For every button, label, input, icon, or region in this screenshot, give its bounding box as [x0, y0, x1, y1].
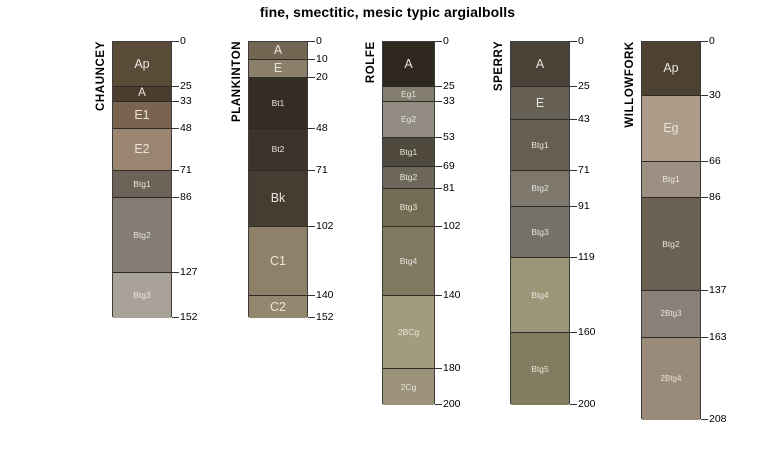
- depth-tick-label: 66: [709, 156, 721, 167]
- depth-tick-label: 30: [709, 90, 721, 101]
- horizon-rolfe-btg3[interactable]: Btg3: [383, 189, 434, 227]
- depth-tick: [172, 170, 179, 171]
- horizon-label: E1: [134, 109, 149, 122]
- horizon-sperry-a[interactable]: A: [511, 42, 569, 87]
- horizon-label: 2Btg3: [661, 310, 682, 318]
- horizon-label: Btg4: [531, 291, 549, 300]
- depth-tick: [172, 272, 179, 273]
- depth-tick-label: 48: [180, 123, 192, 134]
- depth-tick: [570, 206, 577, 207]
- depth-tick: [435, 86, 442, 87]
- horizon-label: Btg2: [400, 173, 418, 182]
- horizon-label: Btg2: [662, 240, 680, 249]
- profile-name-chauncey: CHAUNCEY: [95, 41, 107, 317]
- horizon-label: A: [536, 58, 544, 71]
- depth-tick: [570, 41, 577, 42]
- depth-tick-label: 137: [709, 285, 727, 296]
- horizon-label: A: [138, 88, 146, 100]
- horizon-plankinton-bt1[interactable]: Bt1: [249, 78, 307, 129]
- horizon-plankinton-bt2[interactable]: Bt2: [249, 129, 307, 171]
- horizon-label: Btg1: [400, 148, 418, 157]
- horizon-plankinton-bk[interactable]: Bk: [249, 171, 307, 227]
- profile-name-plankinton: PLANKINTON: [231, 41, 243, 317]
- depth-tick-label: 163: [709, 332, 727, 343]
- depth-tick-label: 140: [316, 290, 334, 301]
- depth-tick: [308, 128, 315, 129]
- depth-tick: [172, 128, 179, 129]
- depth-tick-label: 0: [316, 36, 322, 47]
- depth-tick-label: 127: [180, 267, 198, 278]
- horizon-rolfe-btg1[interactable]: Btg1: [383, 138, 434, 167]
- horizon-willowfork-2btg3[interactable]: 2Btg3: [642, 291, 700, 338]
- horizon-label: Btg2: [531, 184, 549, 193]
- horizon-chauncey-btg3[interactable]: Btg3: [113, 273, 171, 318]
- depth-tick: [701, 197, 708, 198]
- horizon-rolfe-a[interactable]: A: [383, 42, 434, 87]
- horizon-chauncey-e2[interactable]: E2: [113, 129, 171, 171]
- depth-tick: [701, 337, 708, 338]
- horizon-label: 2Cg: [401, 383, 417, 392]
- horizon-chauncey-ap[interactable]: Ap: [113, 42, 171, 87]
- depth-tick-label: 69: [443, 161, 455, 172]
- depth-tick: [701, 290, 708, 291]
- horizon-sperry-btg2[interactable]: Btg2: [511, 171, 569, 207]
- depth-tick-label: 152: [180, 312, 198, 323]
- depth-tick-label: 200: [443, 399, 461, 410]
- depth-tick-label: 25: [578, 81, 590, 92]
- horizon-label: C1: [270, 255, 286, 268]
- depth-tick: [172, 101, 179, 102]
- depth-tick: [308, 41, 315, 42]
- depth-tick-label: 10: [316, 54, 328, 65]
- horizon-label: Btg1: [662, 175, 680, 184]
- depth-tick-label: 25: [443, 81, 455, 92]
- horizon-label: Btg5: [531, 365, 549, 374]
- depth-tick-label: 208: [709, 414, 727, 425]
- depth-tick: [435, 188, 442, 189]
- horizon-label: Eg2: [401, 115, 416, 124]
- horizon-rolfe-btg4[interactable]: Btg4: [383, 227, 434, 296]
- horizon-rolfe-eg2[interactable]: Eg2: [383, 102, 434, 138]
- depth-tick: [435, 226, 442, 227]
- profile-column-rolfe: AEg1Eg2Btg1Btg2Btg3Btg42BCg2Cg: [382, 41, 435, 404]
- horizon-label: 2Btg4: [661, 375, 682, 383]
- depth-tick-label: 43: [578, 114, 590, 125]
- profile-column-chauncey: ApAE1E2Btg1Btg2Btg3: [112, 41, 172, 317]
- horizon-rolfe-btg2[interactable]: Btg2: [383, 167, 434, 189]
- profile-column-plankinton: AEBt1Bt2BkC1C2: [248, 41, 308, 317]
- depth-tick: [435, 368, 442, 369]
- profile-name-rolfe: ROLFE: [365, 41, 377, 404]
- depth-tick-label: 91: [578, 201, 590, 212]
- horizon-label: Btg2: [133, 231, 151, 240]
- depth-tick-label: 152: [316, 312, 334, 323]
- depth-tick-label: 81: [443, 183, 455, 194]
- horizon-rolfe-eg1[interactable]: Eg1: [383, 87, 434, 102]
- depth-tick: [570, 404, 577, 405]
- horizon-label: Btg1: [133, 180, 151, 189]
- horizon-label: Btg3: [400, 203, 418, 212]
- horizon-label: Eg: [663, 122, 678, 135]
- depth-tick: [435, 404, 442, 405]
- depth-tick-label: 0: [709, 36, 715, 47]
- horizon-sperry-e[interactable]: E: [511, 87, 569, 120]
- depth-tick: [435, 166, 442, 167]
- depth-tick-label: 102: [316, 221, 334, 232]
- depth-tick-label: 33: [180, 96, 192, 107]
- depth-tick: [308, 170, 315, 171]
- horizon-label: E: [536, 97, 544, 110]
- depth-tick-label: 33: [443, 96, 455, 107]
- horizon-label: Bt2: [272, 145, 285, 154]
- horizon-sperry-btg3[interactable]: Btg3: [511, 207, 569, 258]
- depth-tick-label: 71: [578, 165, 590, 176]
- depth-tick-label: 160: [578, 327, 596, 338]
- depth-tick-label: 25: [180, 81, 192, 92]
- depth-tick: [570, 257, 577, 258]
- depth-tick: [172, 86, 179, 87]
- profile-column-willowfork: ApEgBtg1Btg22Btg32Btg4: [641, 41, 701, 419]
- horizon-plankinton-e[interactable]: E: [249, 60, 307, 78]
- depth-tick: [172, 197, 179, 198]
- horizon-label: Btg3: [531, 228, 549, 237]
- horizon-sperry-btg1[interactable]: Btg1: [511, 120, 569, 171]
- depth-tick: [701, 419, 708, 420]
- depth-tick-label: 86: [709, 192, 721, 203]
- depth-tick: [308, 295, 315, 296]
- depth-tick: [435, 137, 442, 138]
- depth-tick-label: 20: [316, 72, 328, 83]
- horizon-label: Ap: [134, 58, 149, 71]
- horizon-label: Bk: [271, 192, 286, 205]
- depth-tick: [435, 295, 442, 296]
- depth-tick: [701, 95, 708, 96]
- horizon-label: 2BCg: [398, 328, 419, 337]
- page-title: fine, smectitic, mesic typic argialbolls: [0, 4, 775, 20]
- depth-tick-label: 71: [316, 165, 328, 176]
- profile-name-willowfork: WILLOWFORK: [624, 41, 636, 419]
- depth-tick: [172, 317, 179, 318]
- depth-tick: [570, 332, 577, 333]
- horizon-label: Bt1: [272, 99, 285, 108]
- horizon-label: Eg1: [401, 90, 416, 99]
- depth-tick-label: 200: [578, 399, 596, 410]
- horizon-willowfork-btg2[interactable]: Btg2: [642, 198, 700, 291]
- horizon-label: Ap: [663, 62, 678, 75]
- horizon-label: E2: [134, 143, 149, 156]
- horizon-rolfe-2cg[interactable]: 2Cg: [383, 369, 434, 405]
- profile-name-sperry: SPERRY: [493, 41, 505, 404]
- depth-tick-label: 86: [180, 192, 192, 203]
- depth-tick: [308, 317, 315, 318]
- depth-tick-label: 140: [443, 290, 461, 301]
- depth-tick-label: 0: [180, 36, 186, 47]
- depth-tick: [308, 226, 315, 227]
- depth-tick-label: 102: [443, 221, 461, 232]
- horizon-plankinton-c1[interactable]: C1: [249, 227, 307, 296]
- horizon-label: E: [274, 62, 282, 75]
- horizon-chauncey-a[interactable]: A: [113, 87, 171, 102]
- depth-tick: [570, 119, 577, 120]
- profile-column-sperry: AEBtg1Btg2Btg3Btg4Btg5: [510, 41, 570, 404]
- horizon-label: A: [274, 44, 282, 57]
- horizon-willowfork-btg1[interactable]: Btg1: [642, 162, 700, 198]
- horizon-willowfork-eg[interactable]: Eg: [642, 96, 700, 161]
- depth-tick: [435, 41, 442, 42]
- horizon-label: Btg3: [133, 291, 151, 300]
- horizon-label: C2: [270, 301, 286, 314]
- horizon-rolfe-2bcg[interactable]: 2BCg: [383, 296, 434, 369]
- depth-tick: [308, 77, 315, 78]
- horizon-willowfork-2btg4[interactable]: 2Btg4: [642, 338, 700, 420]
- depth-tick: [701, 41, 708, 42]
- horizon-chauncey-btg1[interactable]: Btg1: [113, 171, 171, 198]
- horizon-sperry-btg5[interactable]: Btg5: [511, 333, 569, 406]
- depth-tick-label: 53: [443, 132, 455, 143]
- depth-tick-label: 119: [578, 252, 595, 263]
- depth-tick-label: 180: [443, 363, 461, 374]
- depth-tick-label: 0: [443, 36, 449, 47]
- horizon-chauncey-btg2[interactable]: Btg2: [113, 198, 171, 272]
- horizon-label: Btg1: [531, 141, 549, 150]
- depth-tick: [308, 59, 315, 60]
- depth-tick-label: 48: [316, 123, 328, 134]
- depth-tick: [701, 161, 708, 162]
- horizon-plankinton-c2[interactable]: C2: [249, 296, 307, 318]
- horizon-chauncey-e1[interactable]: E1: [113, 102, 171, 129]
- depth-tick: [570, 86, 577, 87]
- horizon-label: Btg4: [400, 257, 418, 266]
- horizon-sperry-btg4[interactable]: Btg4: [511, 258, 569, 332]
- horizon-willowfork-ap[interactable]: Ap: [642, 42, 700, 96]
- horizon-plankinton-a[interactable]: A: [249, 42, 307, 60]
- horizon-label: A: [404, 58, 412, 71]
- depth-tick-label: 0: [578, 36, 584, 47]
- depth-tick-label: 71: [180, 165, 192, 176]
- depth-tick: [172, 41, 179, 42]
- depth-tick: [435, 101, 442, 102]
- depth-tick: [570, 170, 577, 171]
